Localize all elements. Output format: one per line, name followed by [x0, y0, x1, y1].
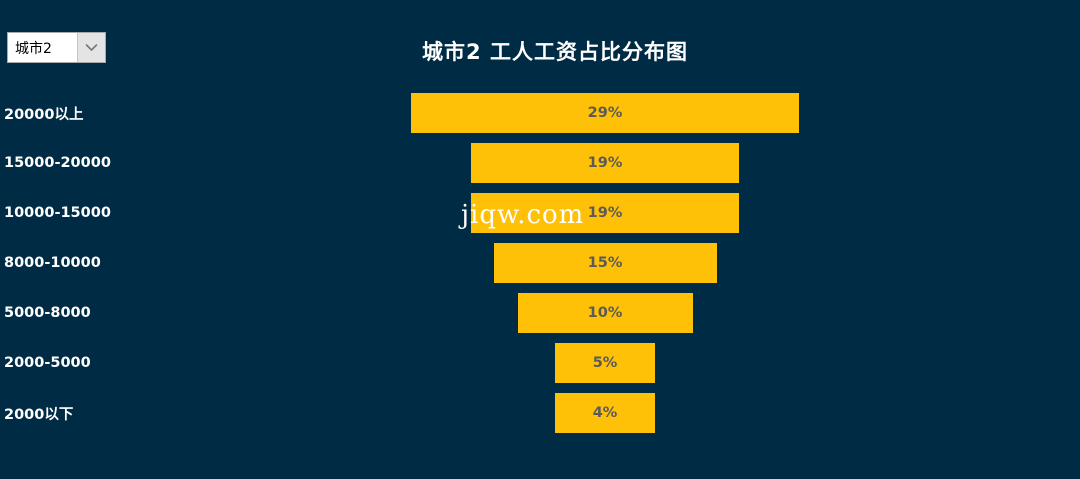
bar[interactable]: 4% [555, 393, 655, 433]
bar[interactable]: 10% [518, 293, 693, 333]
chart-row: 15000-2000019% [0, 138, 1080, 188]
bar[interactable]: 19% [471, 143, 739, 183]
bar-track: 19% [0, 138, 1080, 188]
bar[interactable]: 19% [471, 193, 739, 233]
bar-value-label: 29% [588, 105, 623, 121]
bar-track: 19% [0, 188, 1080, 238]
chart-row: 8000-1000015% [0, 238, 1080, 288]
bar-value-label: 19% [588, 155, 623, 171]
bar-track: 10% [0, 288, 1080, 338]
bar-value-label: 5% [593, 355, 618, 371]
page-title-text: 城市2 工人工资占比分布图 [392, 36, 688, 66]
chart-row: 2000-50005% [0, 338, 1080, 388]
page-title: 城市2 工人工资占比分布图 [0, 36, 1080, 66]
bar[interactable]: 5% [555, 343, 655, 383]
bar-track: 29% [0, 88, 1080, 138]
chart-row: 5000-800010% [0, 288, 1080, 338]
bar[interactable]: 15% [494, 243, 717, 283]
chart-row: 2000以下4% [0, 388, 1080, 438]
bar-value-label: 19% [588, 205, 623, 221]
bar-track: 5% [0, 338, 1080, 388]
funnel-bar-chart: 20000以上29%15000-2000019%10000-1500019%80… [0, 88, 1080, 468]
bar-track: 15% [0, 238, 1080, 288]
bar-value-label: 15% [588, 255, 623, 271]
bar[interactable]: 29% [411, 93, 799, 133]
bar-value-label: 10% [588, 305, 623, 321]
chart-row: 20000以上29% [0, 88, 1080, 138]
bar-track: 4% [0, 388, 1080, 438]
chart-row: 10000-1500019% [0, 188, 1080, 238]
bar-value-label: 4% [593, 405, 618, 421]
